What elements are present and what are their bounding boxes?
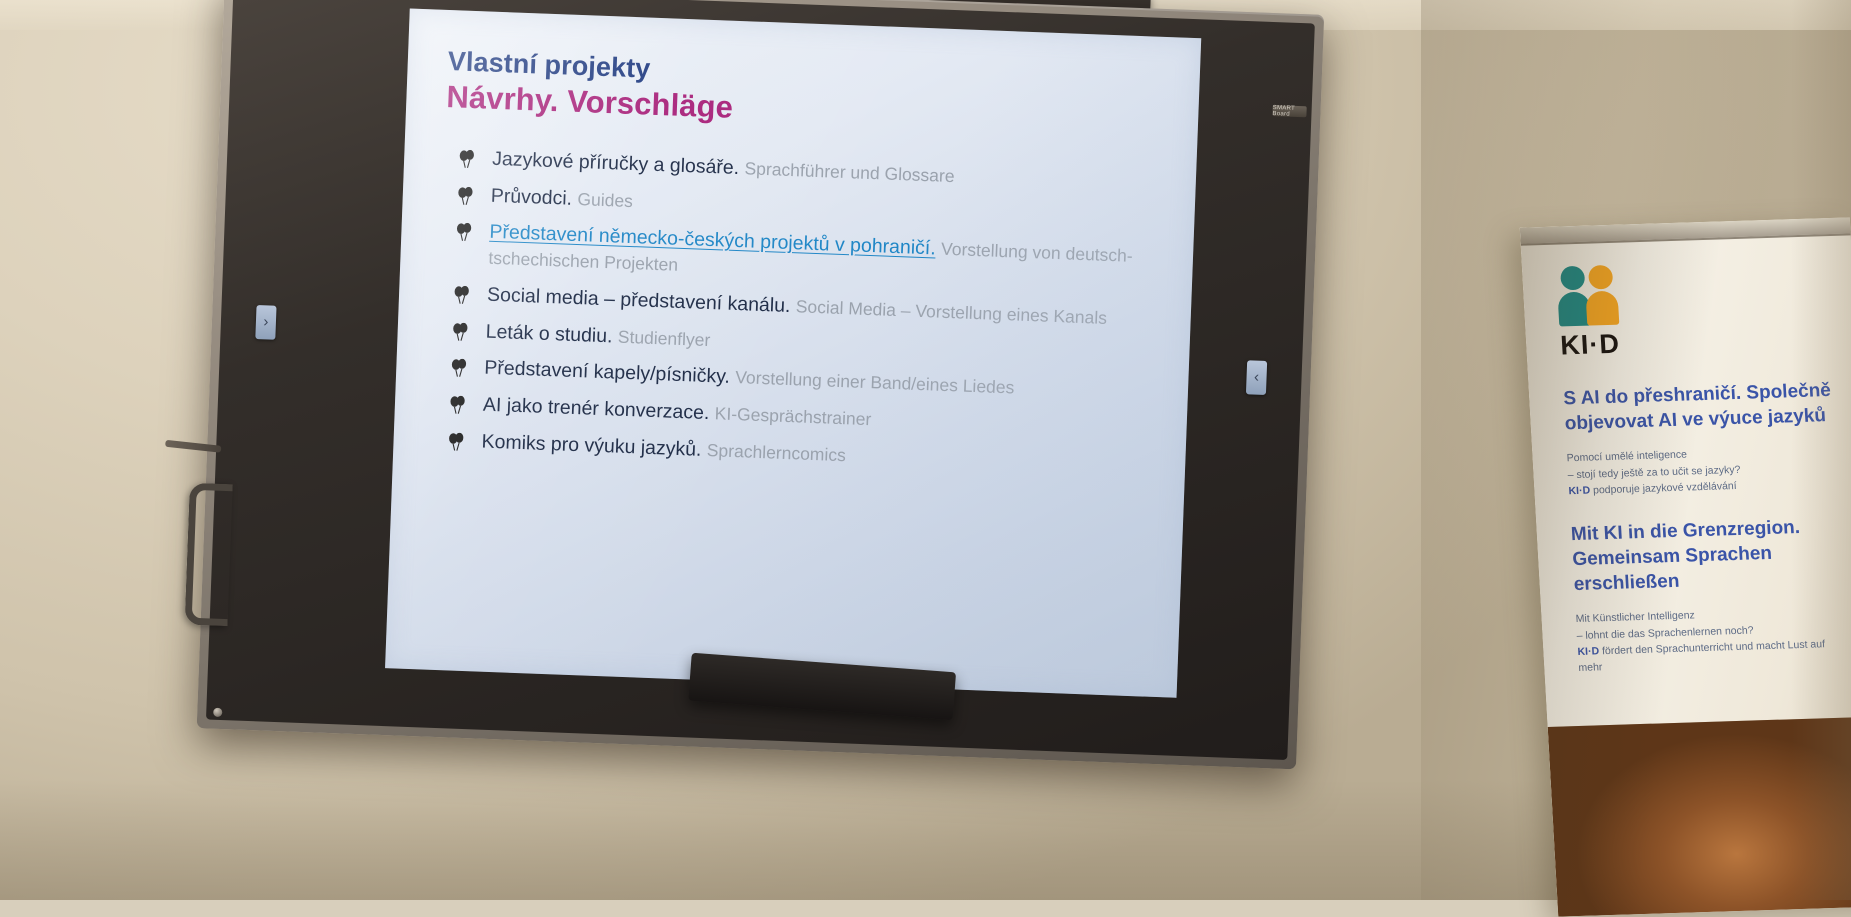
display-right-arrow-icon[interactable]: ‹ (1246, 360, 1267, 395)
presentation-slide: Vlastní projekty Návrhy. Vorschläge Jazy… (385, 9, 1201, 698)
bullet-text-de: KI-Gesprächstrainer (714, 403, 871, 429)
display-handle (185, 483, 233, 627)
bullet-text-cz: Průvodci. (490, 184, 572, 209)
balloons-icon (453, 285, 472, 305)
bullet-text-de: Sprachlerncomics (706, 440, 846, 465)
banner-body-de-line1: Mit Künstlicher Intelligenz (1575, 610, 1695, 626)
banner-body-cz-line2: – stojí tedy ještě za to učit se jazyky? (1567, 463, 1740, 480)
balloons-icon (450, 359, 469, 379)
banner-body-cz-brand: KI·D (1568, 484, 1590, 497)
balloons-icon (447, 432, 466, 452)
banner-body-cz-line1: Pomocí umělé inteligence (1566, 449, 1687, 465)
banner-heading-czech: S AI do přeshraničí. Společně objevovat … (1563, 379, 1836, 437)
bullet-text-de: Sprachführer und Glossare (744, 158, 955, 186)
kid-logo-wordmark: KI·D (1560, 322, 1832, 361)
balloons-icon (455, 223, 474, 243)
balloons-icon (451, 322, 470, 342)
banner-body-de-brand: KI·D (1577, 645, 1599, 658)
banner-body-german: Mit Künstlicher Intelligenz – lohnt die … (1575, 603, 1849, 676)
balloons-icon (458, 149, 477, 169)
kid-logo: KI·D (1556, 258, 1831, 361)
bullet-text-cz: Social media – představení kanálu. (487, 284, 791, 317)
bullet-text-de: Guides (577, 189, 633, 211)
bullet-text-cz: Leták o studiu. (485, 320, 613, 347)
banner-body-czech: Pomocí umělé inteligence – stojí tedy je… (1566, 442, 1839, 499)
display-left-arrow-icon[interactable]: › (255, 305, 276, 340)
banner-photo (1548, 717, 1851, 917)
banner-body-de-line2: – lohnt die das Sprachenlernen noch? (1576, 624, 1754, 642)
bullet-text-de: Studienflyer (618, 326, 711, 349)
slide-bullet-list: Jazykové příručky a glosáře. Sprachführe… (427, 145, 1168, 481)
bullet-text-cz: AI jako trenér konverzace. (483, 394, 710, 424)
two-people-icon (1556, 264, 1637, 326)
banner-heading-german: Mit KI in die Grenzregion. Gemeinsam Spr… (1570, 515, 1844, 597)
banner-body-cz-line3: podporuje jazykové vzdělávání (1590, 480, 1737, 497)
bullet-text-de: Social Media – Vorstellung eines Kanals (795, 296, 1107, 328)
balloons-icon (456, 186, 475, 206)
bullet-text-de: Vorstellung einer Band/eines Liedes (735, 367, 1015, 397)
interactive-display[interactable]: SMART Board › ‹ Vlastní projekty Návrhy.… (182, 0, 1341, 799)
bullet-text-cz: Jazykové příručky a glosáře. (492, 148, 740, 179)
display-frame: SMART Board › ‹ Vlastní projekty Návrhy.… (197, 0, 1325, 769)
banner-body-de-line3: fördert den Sprachunterricht und macht L… (1578, 638, 1825, 674)
bullet-text-cz: Představení kapely/písničky. (484, 357, 730, 388)
kid-rollup-banner: KI·D S AI do přeshraničí. Společně objev… (1520, 217, 1851, 916)
display-screen[interactable]: Vlastní projekty Návrhy. Vorschläge Jazy… (385, 9, 1201, 698)
display-brand-tag: SMART Board (1272, 105, 1306, 117)
balloons-icon (449, 395, 468, 415)
bullet-text-cz: Komiks pro výuku jazyků. (481, 430, 702, 460)
